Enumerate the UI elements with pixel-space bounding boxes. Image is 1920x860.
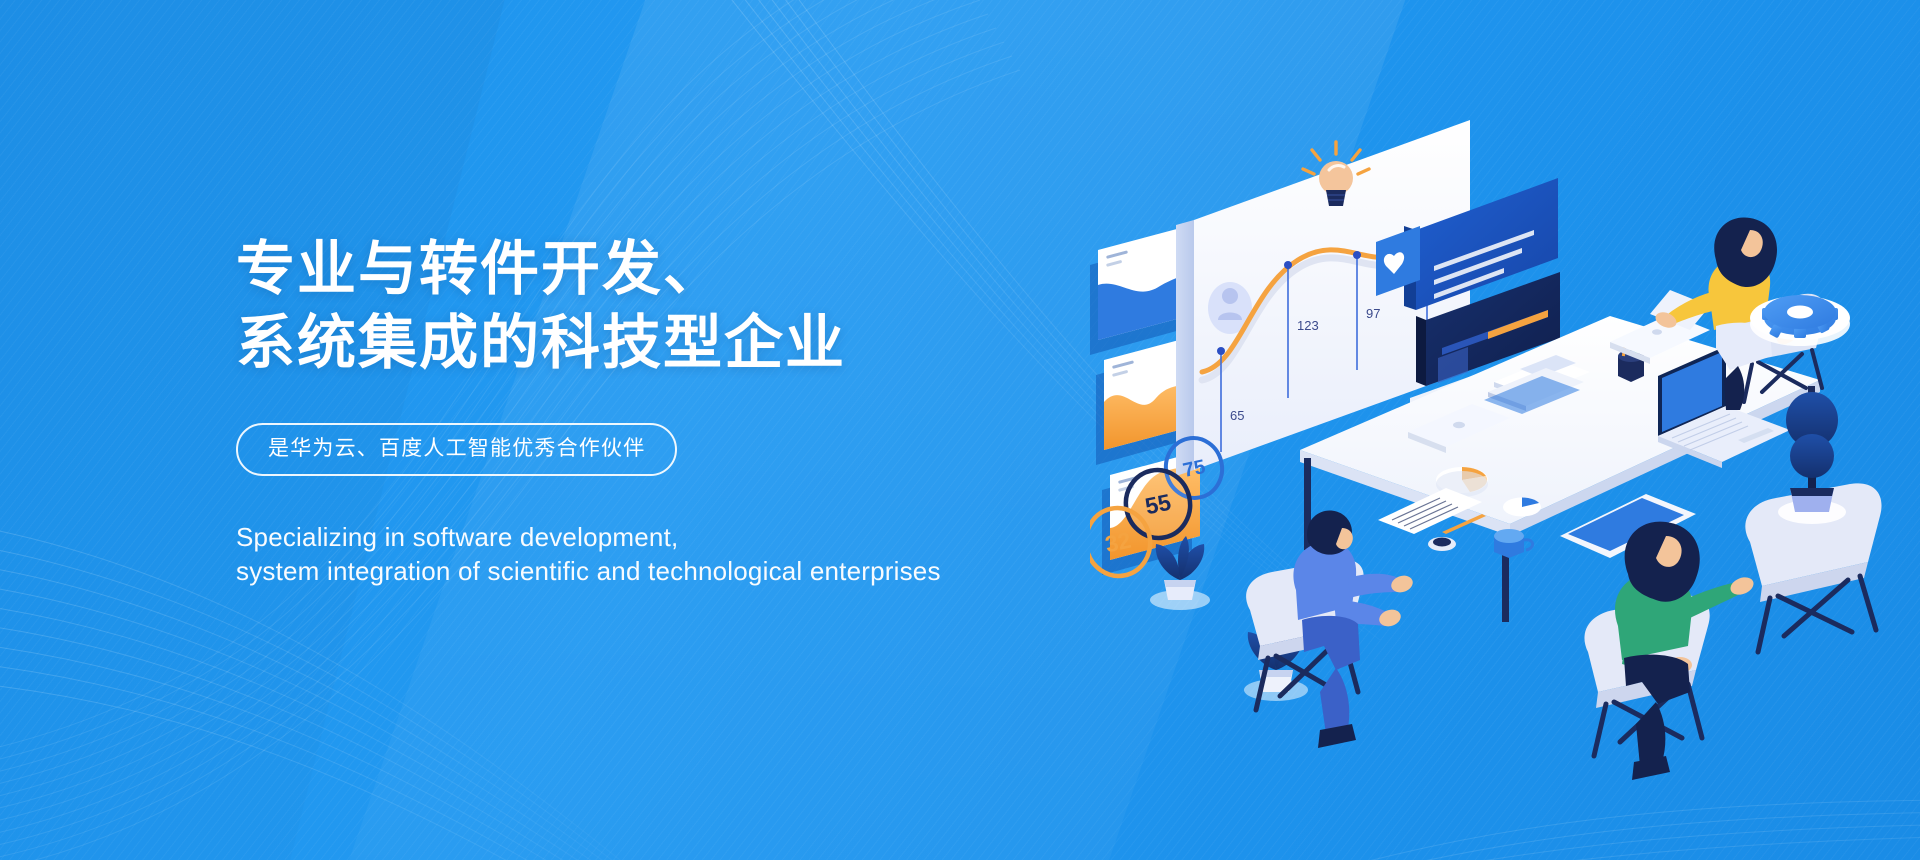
pie-chart-small <box>1503 498 1541 517</box>
chart-label-0: 65 <box>1230 408 1244 423</box>
topiary-plant <box>1778 392 1846 524</box>
subtitle-line-1: Specializing in software development, <box>236 520 1156 554</box>
subtitle: Specializing in software development, sy… <box>236 520 1156 589</box>
chart-label-2: 97 <box>1366 306 1380 321</box>
headline-line-1: 专业与转件开发、 <box>236 232 1156 306</box>
person-left <box>1246 510 1415 748</box>
hero-banner: 专业与转件开发、 系统集成的科技型企业 是华为云、百度人工智能优秀合作伙伴 Sp… <box>0 0 1920 860</box>
gear-icon <box>1750 295 1850 346</box>
partner-badge: 是华为云、百度人工智能优秀合作伙伴 <box>236 423 677 476</box>
hero-copy-block: 专业与转件开发、 系统集成的科技型企业 是华为云、百度人工智能优秀合作伙伴 Sp… <box>236 232 1156 588</box>
coffee-mug <box>1494 529 1533 558</box>
saucer <box>1428 537 1456 551</box>
page-title: 专业与转件开发、 系统集成的科技型企业 <box>236 232 1156 381</box>
person-center <box>1584 522 1756 780</box>
hero-illustration: 65 123 97 81 <box>1090 80 1920 780</box>
gauge-value-2: 75 <box>1181 456 1207 482</box>
isometric-scene-svg: 65 123 97 81 <box>1090 80 1920 780</box>
potted-plant-left <box>1150 536 1210 610</box>
chart-label-1: 123 <box>1297 318 1319 333</box>
headline-line-2: 系统集成的科技型企业 <box>236 306 1156 380</box>
subtitle-line-2: system integration of scientific and tec… <box>236 554 1156 588</box>
